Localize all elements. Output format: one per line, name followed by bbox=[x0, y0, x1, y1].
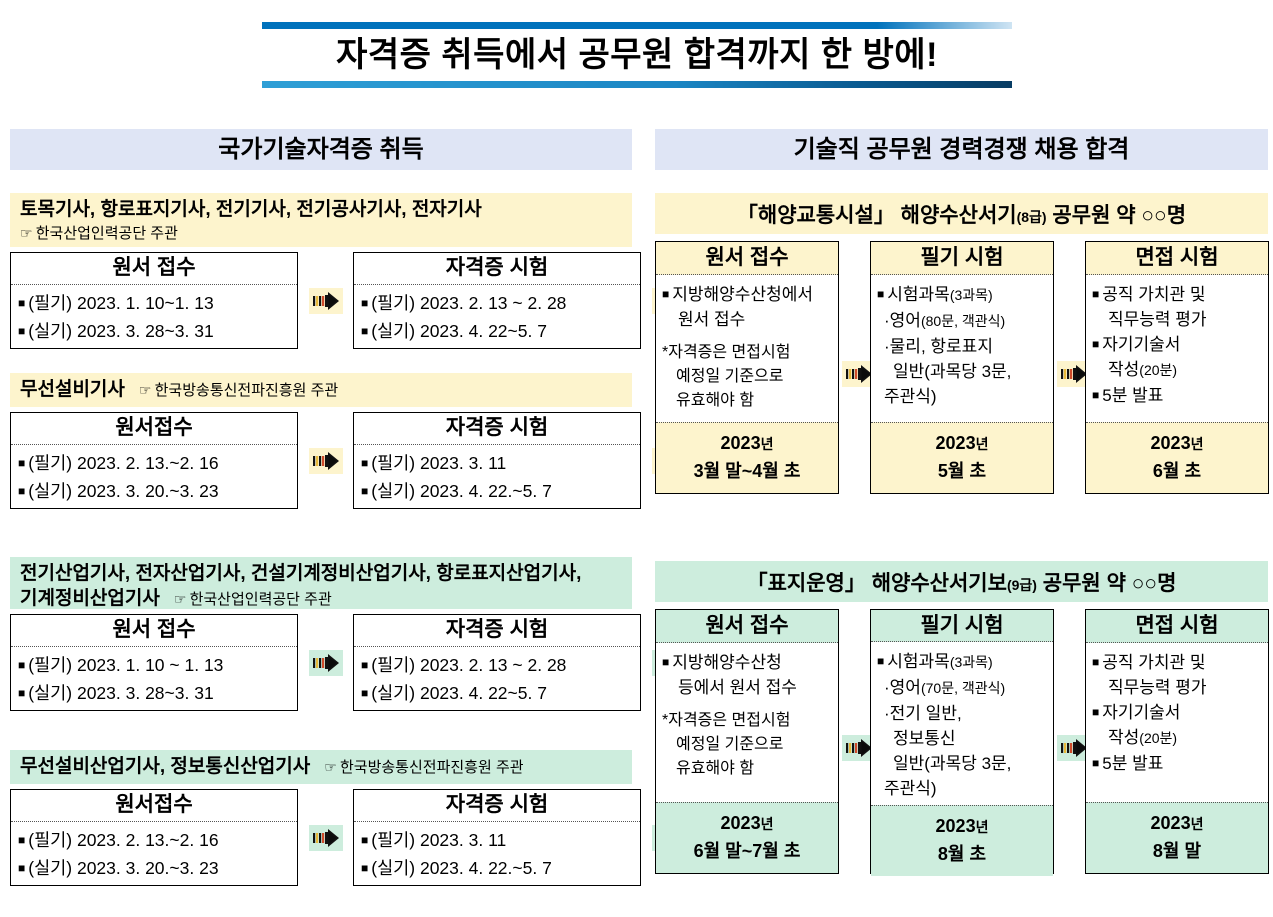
cert-group-banner-2: 무선설비기사☞ 한국방송통신전파진흥원 주관 bbox=[10, 373, 632, 407]
cert-group-agency-3: ☞ 한국산업인력공단 주관 bbox=[174, 591, 332, 608]
cert-step-body-3-1: ■(필기) 2023. 1. 10 ~ 1. 13■(실기) 2023. 3. … bbox=[11, 647, 297, 709]
cert-step-box-3-2: 자격증 시험■(필기) 2023. 2. 13 ~ 2. 28■(실기) 202… bbox=[353, 614, 641, 711]
dot-icon: · bbox=[884, 704, 890, 723]
bullet-icon: ■ bbox=[361, 296, 368, 310]
hand-pointer-icon: ☞ bbox=[139, 382, 151, 398]
gov-step-title-2-3: 면접 시험 bbox=[1086, 610, 1268, 643]
gov-step-col-1-3: 면접 시험■공직 가치관 및직무능력 평가■자기기술서작성(20분)■5분 발표… bbox=[1085, 241, 1269, 494]
spacer bbox=[662, 332, 833, 341]
cert-step-title-4-1: 원서접수 bbox=[11, 790, 297, 822]
gov-step-line-1-3-2: 직무능력 평가 bbox=[1092, 307, 1263, 332]
cert-step-line-4-1-2: ■(실기) 2023. 3. 20.~3. 23 bbox=[18, 854, 291, 882]
gov-step-title-1-1: 원서 접수 bbox=[656, 242, 838, 275]
gov-step-line-2-1-1: ■지방해양수산청 bbox=[662, 650, 833, 675]
gov-step-line-2-1-5: 예정일 기준으로 bbox=[662, 733, 833, 757]
cert-step-box-3-1: 원서 접수■(필기) 2023. 1. 10 ~ 1. 13■(실기) 2023… bbox=[10, 614, 298, 711]
cert-step-body-3-2: ■(필기) 2023. 2. 13 ~ 2. 28■(실기) 2023. 4. … bbox=[354, 647, 640, 709]
cert-step-line-3-2-1: ■(필기) 2023. 2. 13 ~ 2. 28 bbox=[361, 651, 634, 679]
gov-step-line-2-1-4: *자격증은 면접시험 bbox=[662, 709, 833, 733]
gov-step-line-1-3-4: 작성(20분) bbox=[1092, 357, 1263, 383]
gov-step-schedule-1-3: 2023년6월 초 bbox=[1086, 422, 1268, 493]
bullet-icon: ■ bbox=[361, 833, 368, 847]
gov-step-line-2-3-2: 직무능력 평가 bbox=[1092, 675, 1263, 700]
cert-step-box-1-2: 자격증 시험■(필기) 2023. 2. 13 ~ 2. 28■(실기) 202… bbox=[353, 252, 641, 349]
title-banner: 자격증 취득에서 공무원 합격까지 한 방에! bbox=[262, 22, 1012, 88]
gov-step-line-1-1-4: *자격증은 면접시험 bbox=[662, 341, 833, 365]
hand-pointer-icon: ☞ bbox=[20, 225, 32, 241]
gov-step-schedule-line-1-2-1: 2023년 bbox=[873, 430, 1051, 458]
cert-step-box-1-1: 원서 접수■(필기) 2023. 1. 10~1. 13■(실기) 2023. … bbox=[10, 252, 298, 349]
cert-step-line-4-2-1: ■(필기) 2023. 3. 11 bbox=[361, 826, 634, 854]
gov-step-line-2-3-5: ■5분 발표 bbox=[1092, 751, 1263, 776]
cert-group-agency-1: ☞ 한국산업인력공단 주관 bbox=[20, 222, 622, 245]
grade-label-1: (8급) bbox=[1017, 209, 1047, 225]
gov-step-body-2-1: ■지방해양수산청등에서 원서 접수*자격증은 면접시험예정일 기준으로유효해야 … bbox=[656, 643, 838, 802]
dot-icon: · bbox=[884, 337, 890, 356]
bullet-icon: ■ bbox=[877, 287, 884, 301]
gov-step-line-2-2-1: ■시험과목(3과목) bbox=[877, 649, 1048, 675]
bullet-icon: ■ bbox=[1092, 756, 1099, 770]
cert-step-line-4-2-2: ■(실기) 2023. 4. 22.~5. 7 bbox=[361, 854, 634, 882]
flow-arrow-icon-1-1 bbox=[309, 285, 343, 317]
bullet-icon: ■ bbox=[1092, 705, 1099, 719]
bullet-icon: ■ bbox=[1092, 388, 1099, 402]
cert-step-title-1-2: 자격증 시험 bbox=[354, 253, 640, 285]
dot-icon: · bbox=[884, 311, 890, 330]
cert-step-title-2-1: 원서접수 bbox=[11, 413, 297, 445]
gov-step-col-1-2: 필기 시험■시험과목(3과목)·영어(80문, 객관식)·물리, 항로표지일반(… bbox=[870, 241, 1054, 494]
gov-step-line-2-3-1: ■공직 가치관 및 bbox=[1092, 650, 1263, 675]
cert-step-line-1-1-1: ■(필기) 2023. 1. 10~1. 13 bbox=[18, 289, 291, 317]
hand-pointer-icon: ☞ bbox=[174, 591, 186, 607]
gov-step-line-2-1-6: 유효해야 함 bbox=[662, 757, 833, 781]
cert-step-line-2-1-2: ■(실기) 2023. 3. 20.~3. 23 bbox=[18, 477, 291, 505]
gov-step-line-2-3-4: 작성(20분) bbox=[1092, 725, 1263, 751]
gov-step-line-1-3-3: ■자기기술서 bbox=[1092, 332, 1263, 357]
gov-step-schedule-line-2-3-2: 8월 말 bbox=[1088, 838, 1266, 865]
hand-pointer-icon: ☞ bbox=[324, 759, 336, 775]
gov-step-title-2-1: 원서 접수 bbox=[656, 610, 838, 643]
gov-step-line-1-2-1: ■시험과목(3과목) bbox=[877, 282, 1048, 308]
grade-label-2: (9급) bbox=[1007, 577, 1037, 593]
bullet-icon: ■ bbox=[662, 655, 669, 669]
bullet-icon: ■ bbox=[877, 654, 884, 668]
flow-arrow-icon-2-1 bbox=[309, 445, 343, 477]
gov-banner-1: 「해양교통시설」 해양수산서기(8급) 공무원 약 ○○명 bbox=[655, 193, 1268, 234]
gov-banner-2: 「표지운영」 해양수산서기보(9급) 공무원 약 ○○명 bbox=[655, 561, 1268, 602]
bullet-icon: ■ bbox=[18, 833, 25, 847]
gov-step-col-1-1: 원서 접수■지방해양수산청에서원서 접수*자격증은 면접시험예정일 기준으로유효… bbox=[655, 241, 839, 494]
gov-step-schedule-line-2-2-2: 8월 초 bbox=[873, 841, 1051, 868]
cert-step-body-1-2: ■(필기) 2023. 2. 13 ~ 2. 28■(실기) 2023. 4. … bbox=[354, 285, 640, 347]
cert-group-title-1: 토목기사, 항로표지기사, 전기기사, 전기공사기사, 전자기사 bbox=[20, 197, 622, 222]
gov-step-line-1-1-6: 유효해야 함 bbox=[662, 389, 833, 413]
gov-step-line-2-1-2: 등에서 원서 접수 bbox=[662, 675, 833, 700]
title-rule-bottom bbox=[262, 81, 1012, 88]
flow-arrow-icon-3-1 bbox=[309, 647, 343, 679]
gov-step-body-1-3: ■공직 가치관 및직무능력 평가■자기기술서작성(20분)■5분 발표 bbox=[1086, 275, 1268, 422]
cert-step-line-1-1-2: ■(실기) 2023. 3. 28~3. 31 bbox=[18, 317, 291, 345]
bullet-icon: ■ bbox=[18, 686, 25, 700]
gov-step-line-2-2-2: ·영어(70문, 객관식) bbox=[877, 675, 1048, 701]
cert-group-title2-3: 기계정비산업기사 bbox=[20, 588, 160, 609]
bullet-icon: ■ bbox=[361, 861, 368, 875]
cert-group-title-2: 무선설비기사 bbox=[20, 379, 125, 400]
gov-step-title-1-2: 필기 시험 bbox=[871, 242, 1053, 275]
cert-step-box-2-2: 자격증 시험■(필기) 2023. 3. 11■(실기) 2023. 4. 22… bbox=[353, 412, 641, 509]
cert-step-title-3-2: 자격증 시험 bbox=[354, 615, 640, 647]
gov-step-line-1-2-5: 주관식) bbox=[877, 384, 1048, 409]
cert-step-line-3-1-2: ■(실기) 2023. 3. 28~3. 31 bbox=[18, 679, 291, 707]
gov-step-body-2-2: ■시험과목(3과목)·영어(70문, 객관식)·전기 일반,정보통신일반(과목당… bbox=[871, 642, 1053, 805]
gov-step-line-2-2-6: 주관식) bbox=[877, 776, 1048, 801]
gov-step-schedule-line-1-1-1: 2023년 bbox=[658, 430, 836, 458]
gov-step-line-1-3-5: ■5분 발표 bbox=[1092, 383, 1263, 408]
bullet-icon: ■ bbox=[18, 861, 25, 875]
cert-group-agency-4: ☞ 한국방송통신전파진흥원 주관 bbox=[324, 759, 523, 776]
cert-step-body-2-2: ■(필기) 2023. 3. 11■(실기) 2023. 4. 22.~5. 7 bbox=[354, 445, 640, 507]
gov-step-body-1-1: ■지방해양수산청에서원서 접수*자격증은 면접시험예정일 기준으로유효해야 함 bbox=[656, 275, 838, 422]
gov-step-col-2-1: 원서 접수■지방해양수산청등에서 원서 접수*자격증은 면접시험예정일 기준으로… bbox=[655, 609, 839, 874]
gov-step-schedule-1-2: 2023년5월 초 bbox=[871, 422, 1053, 493]
cert-step-title-2-2: 자격증 시험 bbox=[354, 413, 640, 445]
bullet-icon: ■ bbox=[361, 484, 368, 498]
bullet-icon: ■ bbox=[18, 456, 25, 470]
gov-step-schedule-line-1-3-1: 2023년 bbox=[1088, 430, 1266, 458]
cert-group-banner-3: 전기산업기사, 전자산업기사, 건설기계정비산업기사, 항로표지산업기사,기계정… bbox=[10, 557, 632, 609]
bullet-icon: ■ bbox=[18, 296, 25, 310]
bullet-icon: ■ bbox=[361, 324, 368, 338]
cert-step-box-4-2: 자격증 시험■(필기) 2023. 3. 11■(실기) 2023. 4. 22… bbox=[353, 789, 641, 886]
cert-step-line-2-2-1: ■(필기) 2023. 3. 11 bbox=[361, 449, 634, 477]
bullet-icon: ■ bbox=[1092, 337, 1099, 351]
bullet-icon: ■ bbox=[18, 484, 25, 498]
gov-step-schedule-line-1-2-2: 5월 초 bbox=[873, 458, 1051, 485]
cert-group-banner-4: 무선설비산업기사, 정보통신산업기사☞ 한국방송통신전파진흥원 주관 bbox=[10, 750, 632, 784]
gov-step-body-1-2: ■시험과목(3과목)·영어(80문, 객관식)·물리, 항로표지일반(과목당 3… bbox=[871, 275, 1053, 422]
gov-banner-text-1: 「해양교통시설」 해양수산서기(8급) 공무원 약 ○○명 bbox=[737, 199, 1186, 229]
cert-step-title-1-1: 원서 접수 bbox=[11, 253, 297, 285]
bullet-icon: ■ bbox=[18, 324, 25, 338]
dot-icon: · bbox=[884, 678, 890, 697]
cert-step-line-3-1-1: ■(필기) 2023. 1. 10 ~ 1. 13 bbox=[18, 651, 291, 679]
cert-step-line-1-2-1: ■(필기) 2023. 2. 13 ~ 2. 28 bbox=[361, 289, 634, 317]
gov-step-line-1-1-1: ■지방해양수산청에서 bbox=[662, 282, 833, 307]
flow-arrow-icon-4-1 bbox=[309, 822, 343, 854]
gov-step-body-2-3: ■공직 가치관 및직무능력 평가■자기기술서작성(20분)■5분 발표 bbox=[1086, 643, 1268, 802]
gov-step-schedule-2-2: 2023년8월 초 bbox=[871, 805, 1053, 876]
gov-step-schedule-line-1-3-2: 6월 초 bbox=[1088, 458, 1266, 485]
gov-step-schedule-line-2-1-1: 2023년 bbox=[658, 810, 836, 838]
gov-step-line-2-2-3: ·전기 일반, bbox=[877, 701, 1048, 726]
spacer bbox=[662, 700, 833, 709]
cert-group-banner-1: 토목기사, 항로표지기사, 전기기사, 전기공사기사, 전자기사☞ 한국산업인력… bbox=[10, 193, 632, 247]
cert-group-title-4: 무선설비산업기사, 정보통신산업기사 bbox=[20, 756, 310, 777]
gov-step-line-1-1-2: 원서 접수 bbox=[662, 307, 833, 332]
gov-step-line-2-2-5: 일반(과목당 3문, bbox=[877, 751, 1048, 776]
cert-step-line-2-2-2: ■(실기) 2023. 4. 22.~5. 7 bbox=[361, 477, 634, 505]
gov-step-schedule-line-2-3-1: 2023년 bbox=[1088, 810, 1266, 838]
cert-step-box-4-1: 원서접수■(필기) 2023. 2. 13.~2. 16■(실기) 2023. … bbox=[10, 789, 298, 886]
cert-group-agency-2: ☞ 한국방송통신전파진흥원 주관 bbox=[139, 382, 338, 399]
cert-step-body-1-1: ■(필기) 2023. 1. 10~1. 13■(실기) 2023. 3. 28… bbox=[11, 285, 297, 347]
cert-step-box-2-1: 원서접수■(필기) 2023. 2. 13.~2. 16■(실기) 2023. … bbox=[10, 412, 298, 509]
cert-step-body-4-2: ■(필기) 2023. 3. 11■(실기) 2023. 4. 22.~5. 7 bbox=[354, 822, 640, 884]
gov-step-line-2-2-4: 정보통신 bbox=[877, 726, 1048, 751]
cert-group-subrow-3: 기계정비산업기사☞ 한국산업인력공단 주관 bbox=[20, 586, 622, 611]
bullet-icon: ■ bbox=[1092, 287, 1099, 301]
gov-step-line-1-2-2: ·영어(80문, 객관식) bbox=[877, 308, 1048, 334]
gov-step-title-1-3: 면접 시험 bbox=[1086, 242, 1268, 275]
bullet-icon: ■ bbox=[361, 456, 368, 470]
gov-step-line-1-1-5: 예정일 기준으로 bbox=[662, 365, 833, 389]
bullet-icon: ■ bbox=[18, 658, 25, 672]
gov-banner-text-2: 「표지운영」 해양수산서기보(9급) 공무원 약 ○○명 bbox=[747, 567, 1177, 597]
cert-step-line-3-2-2: ■(실기) 2023. 4. 22~5. 7 bbox=[361, 679, 634, 707]
cert-step-title-3-1: 원서 접수 bbox=[11, 615, 297, 647]
bullet-icon: ■ bbox=[662, 287, 669, 301]
cert-step-line-2-1-1: ■(필기) 2023. 2. 13.~2. 16 bbox=[18, 449, 291, 477]
gov-step-col-2-2: 필기 시험■시험과목(3과목)·영어(70문, 객관식)·전기 일반,정보통신일… bbox=[870, 609, 1054, 874]
gov-step-title-2-2: 필기 시험 bbox=[871, 610, 1053, 642]
gov-step-line-1-3-1: ■공직 가치관 및 bbox=[1092, 282, 1263, 307]
gov-step-line-1-2-3: ·물리, 항로표지 bbox=[877, 334, 1048, 359]
cert-step-title-4-2: 자격증 시험 bbox=[354, 790, 640, 822]
gov-step-schedule-2-1: 2023년6월 말~7월 초 bbox=[656, 802, 838, 873]
cert-group-title-3: 전기산업기사, 전자산업기사, 건설기계정비산업기사, 항로표지산업기사, bbox=[20, 561, 622, 586]
section-header-left: 국가기술자격증 취득 bbox=[10, 129, 632, 170]
bullet-icon: ■ bbox=[361, 686, 368, 700]
gov-step-schedule-line-2-1-2: 6월 말~7월 초 bbox=[658, 838, 836, 865]
page-title: 자격증 취득에서 공무원 합격까지 한 방에! bbox=[262, 28, 1012, 82]
section-header-right: 기술직 공무원 경력경쟁 채용 합격 bbox=[655, 129, 1268, 170]
gov-step-schedule-line-2-2-1: 2023년 bbox=[873, 813, 1051, 841]
gov-step-schedule-1-1: 2023년3월 말~4월 초 bbox=[656, 422, 838, 493]
cert-step-line-1-2-2: ■(실기) 2023. 4. 22~5. 7 bbox=[361, 317, 634, 345]
gov-step-line-1-2-4: 일반(과목당 3문, bbox=[877, 359, 1048, 384]
cert-step-line-4-1-1: ■(필기) 2023. 2. 13.~2. 16 bbox=[18, 826, 291, 854]
bullet-icon: ■ bbox=[1092, 655, 1099, 669]
cert-step-body-4-1: ■(필기) 2023. 2. 13.~2. 16■(실기) 2023. 3. 2… bbox=[11, 822, 297, 884]
bullet-icon: ■ bbox=[361, 658, 368, 672]
gov-step-schedule-2-3: 2023년8월 말 bbox=[1086, 802, 1268, 873]
gov-step-col-2-3: 면접 시험■공직 가치관 및직무능력 평가■자기기술서작성(20분)■5분 발표… bbox=[1085, 609, 1269, 874]
gov-step-line-2-3-3: ■자기기술서 bbox=[1092, 700, 1263, 725]
cert-step-body-2-1: ■(필기) 2023. 2. 13.~2. 16■(실기) 2023. 3. 2… bbox=[11, 445, 297, 507]
gov-step-schedule-line-1-1-2: 3월 말~4월 초 bbox=[658, 458, 836, 485]
